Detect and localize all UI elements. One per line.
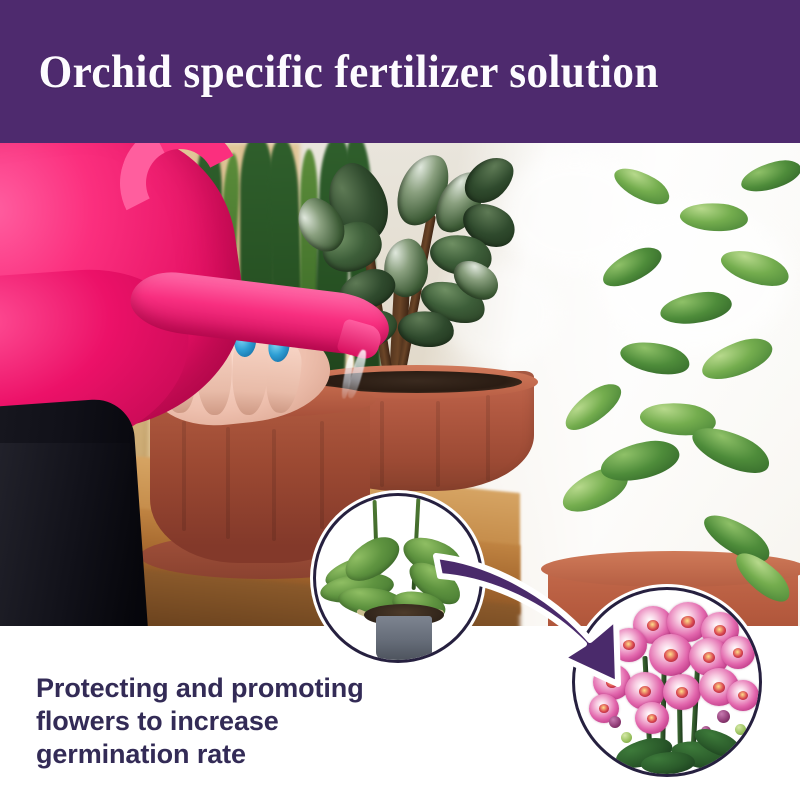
orchid-bloom <box>721 636 755 669</box>
caption-line-1: Protecting and promoting <box>36 672 396 705</box>
pot-ridge <box>226 427 230 539</box>
orchid-bloom <box>611 628 647 662</box>
caption-line-3: germination rate <box>36 738 396 771</box>
caption-text: Protecting and promoting flowers to incr… <box>36 672 396 771</box>
nursery-pot <box>376 616 432 660</box>
dark-trouser-leg <box>0 443 130 626</box>
orchid-bud <box>735 724 746 735</box>
orchid-bloom <box>663 674 701 710</box>
pot-ridge <box>436 401 440 487</box>
orchid-bloom <box>727 680 759 711</box>
orchid-bud <box>717 710 730 723</box>
callout-bloom <box>572 587 762 777</box>
orchid-bloom <box>635 702 669 734</box>
header-band: Orchid specific fertilizer solution <box>0 0 800 143</box>
orchid-bud <box>609 716 621 728</box>
pot-ridge <box>380 401 384 487</box>
orchid-bud <box>621 732 632 743</box>
callout-seedling <box>313 493 483 663</box>
poster-root: Orchid specific fertilizer solution <box>0 0 800 800</box>
pot-ridge <box>272 429 276 541</box>
pot-ridge <box>182 421 186 531</box>
pot-ridge <box>486 395 490 481</box>
page-title: Orchid specific fertilizer solution <box>0 45 659 99</box>
orchid-bloom <box>649 634 693 676</box>
callout-bloom-image <box>575 590 759 774</box>
callout-seedling-image <box>316 496 480 660</box>
caption-line-2: flowers to increase <box>36 705 396 738</box>
